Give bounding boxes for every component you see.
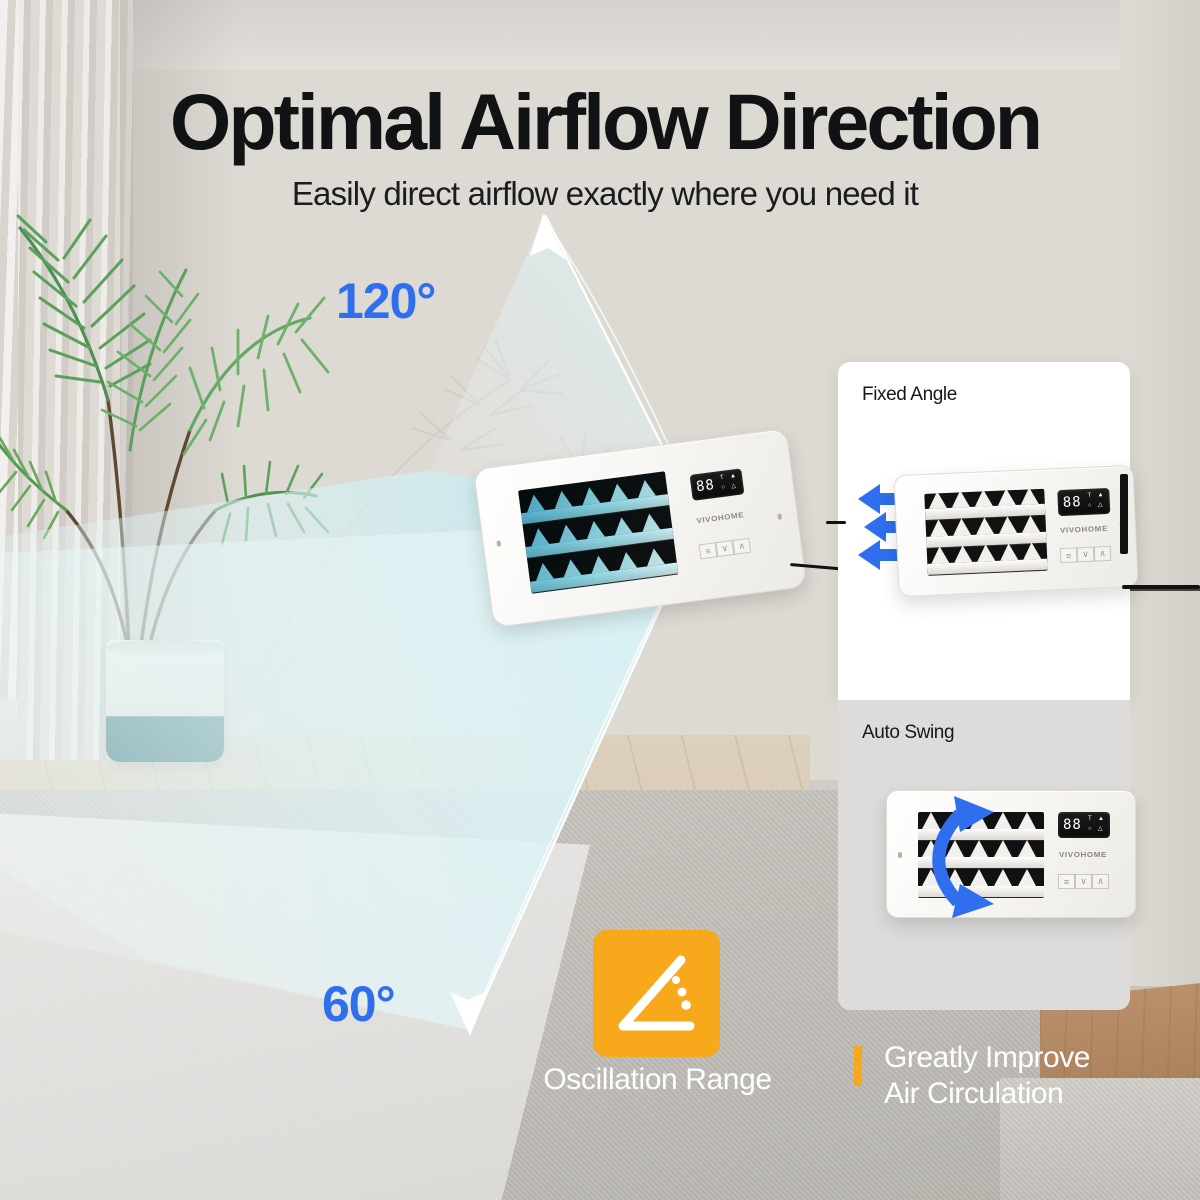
auto-swing-arrow (916, 792, 1036, 922)
power-cord-left (826, 521, 846, 524)
display-value: 88 (695, 477, 716, 495)
down-button[interactable]: ∨ (1075, 874, 1092, 889)
card-auto-swing: Auto Swing (838, 700, 1130, 1010)
angle-range-icon (593, 930, 720, 1057)
benefit-line-2: Air Circulation (884, 1077, 1063, 1111)
card-title-auto-swing: Auto Swing (862, 722, 954, 744)
up-button[interactable]: ∧ (732, 538, 751, 555)
up-button[interactable]: ∧ (1094, 546, 1112, 562)
angle-label-lower: 60° (322, 975, 395, 1033)
card-fixed-angle: Fixed Angle (838, 362, 1130, 700)
louver-row (927, 543, 1048, 576)
display-value: 88 (1063, 817, 1082, 833)
accent-bar (854, 1046, 862, 1086)
screw (496, 540, 501, 546)
display-icon-cluster: T ▲ ○ △ (1086, 816, 1106, 834)
benefit-line-1: Greatly Improve (884, 1041, 1090, 1075)
area-rug (0, 805, 590, 1200)
mode-button[interactable]: ≡ (699, 542, 718, 559)
screw (777, 513, 782, 519)
screw (898, 852, 902, 858)
up-button[interactable]: ∧ (1092, 874, 1109, 889)
airflow-tint (518, 471, 678, 593)
cord-clip (1120, 474, 1128, 554)
brand-label: VIVOHOME (1059, 850, 1107, 858)
down-button[interactable]: ∨ (1077, 547, 1095, 563)
promo-image: 88 T ▲ ○ △ VIVOHOME ≡ ∨ ∧ Fixed Angle (0, 0, 1200, 1200)
mode-button[interactable]: ≡ (1058, 874, 1075, 889)
control-display: 88 T ▲ ○ △ (1057, 488, 1110, 516)
control-buttons[interactable]: ≡ ∨ ∧ (1060, 546, 1112, 563)
display-icon-cluster: T ▲ ○ △ (718, 473, 740, 493)
control-buttons[interactable]: ≡ ∨ ∧ (1058, 874, 1109, 889)
page-subtitle: Easily direct airflow exactly where you … (50, 175, 1160, 213)
control-display: 88 T ▲ ○ △ (1058, 812, 1110, 838)
pot-rim (106, 640, 224, 656)
down-button[interactable]: ∨ (716, 540, 735, 557)
page-title: Optimal Airflow Direction (50, 82, 1160, 161)
angle-label-upper: 120° (336, 272, 435, 330)
palm-plant (0, 150, 400, 690)
oscillation-range-tile (593, 930, 720, 1057)
power-cord-right (1122, 585, 1200, 589)
fan-unit-fixed: 88 T ▲ ○ △ VIVOHOME ≡ ∨ ∧ (893, 465, 1138, 597)
fan-grille (924, 489, 1047, 576)
card-title-fixed-angle: Fixed Angle (862, 384, 957, 406)
display-value: 88 (1062, 494, 1082, 511)
mode-button[interactable]: ≡ (1060, 547, 1078, 563)
oscillation-range-label: Oscillation Range (520, 1063, 795, 1097)
ceramic-pot (106, 640, 224, 762)
display-icon-cluster: T ▲ ○ △ (1085, 492, 1106, 511)
